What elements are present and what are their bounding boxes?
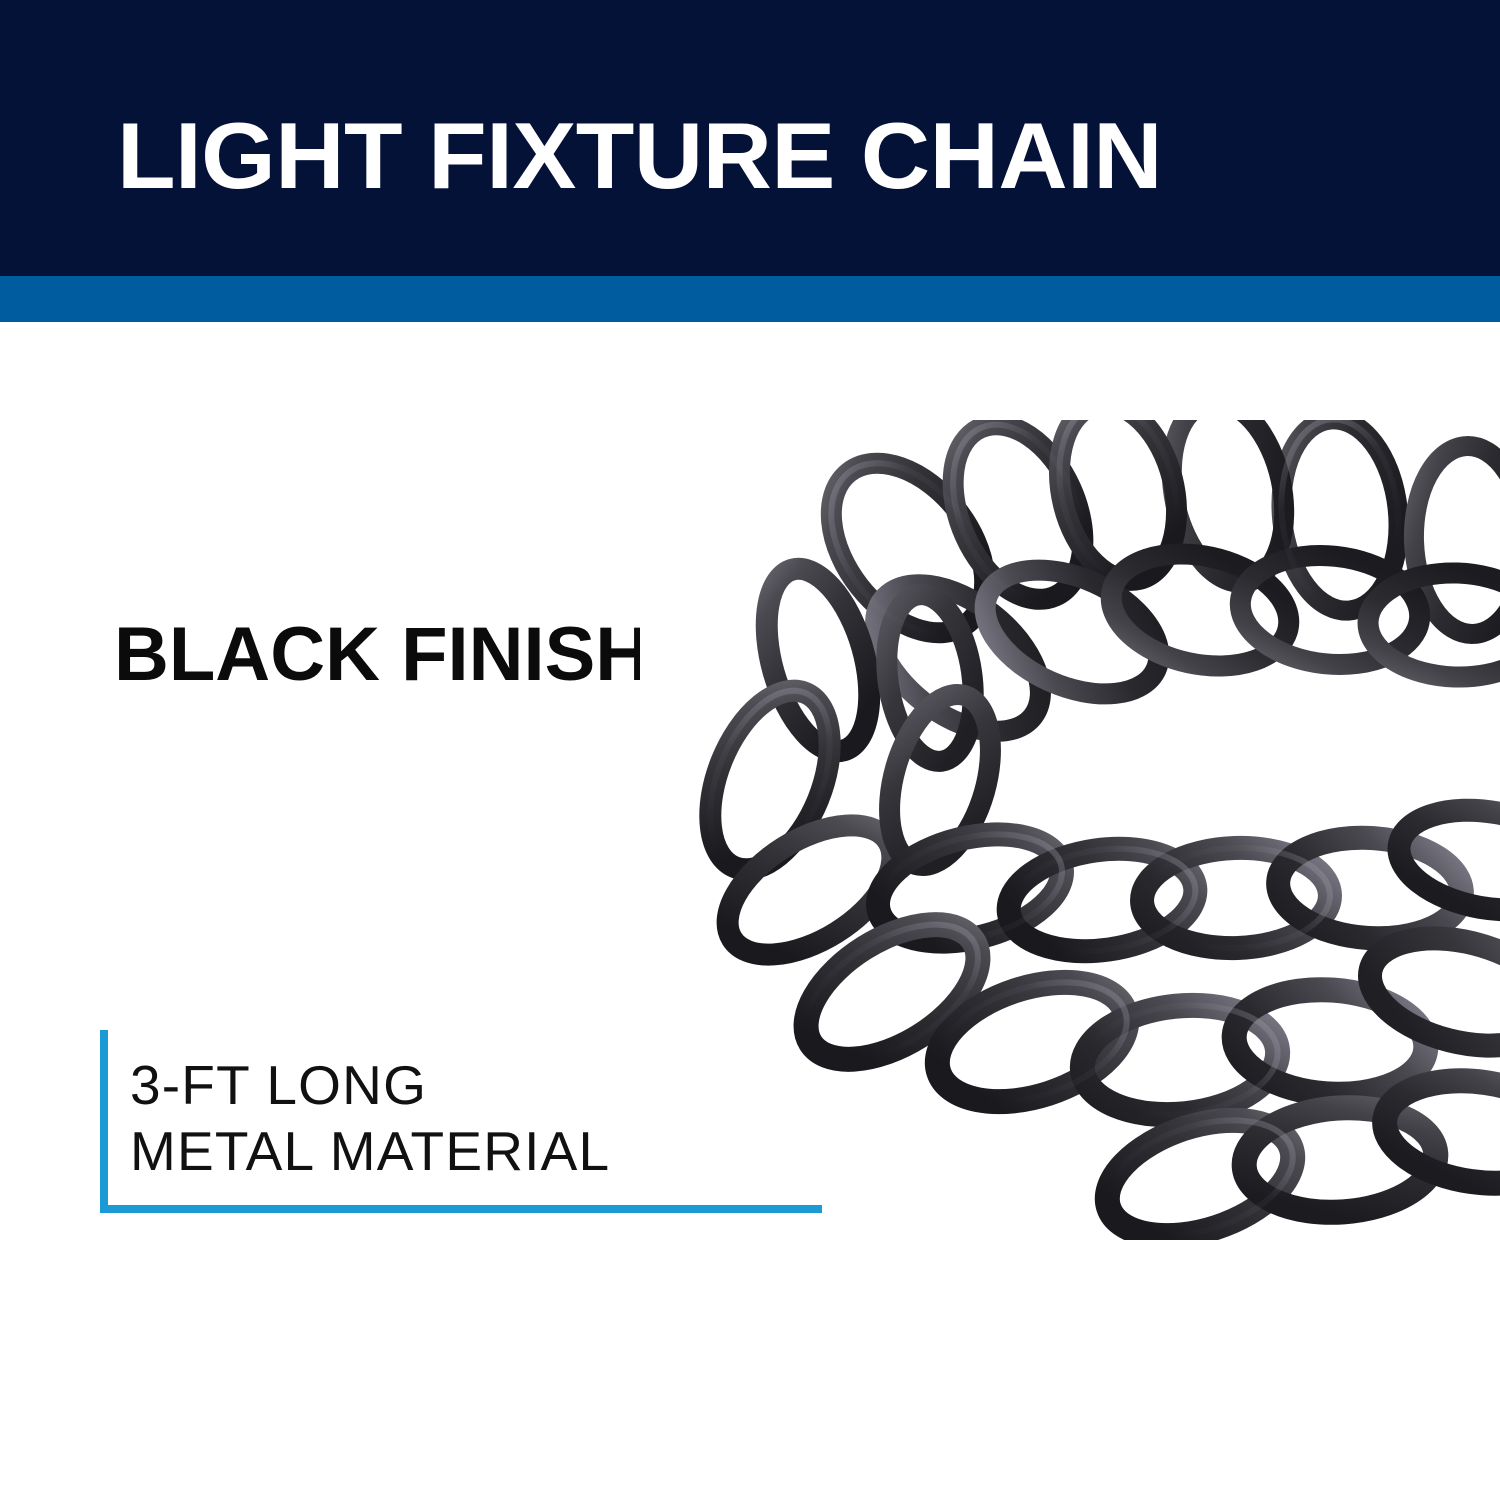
header-accent-strip	[0, 276, 1500, 322]
callout-text-block: 3-FT LONG METAL MATERIAL	[130, 1052, 610, 1184]
header-bar: LIGHT FIXTURE CHAIN	[0, 0, 1500, 276]
page-title: LIGHT FIXTURE CHAIN	[117, 106, 1162, 206]
product-marketing-canvas: LIGHT FIXTURE CHAIN BLACK FINISH	[0, 0, 1500, 1500]
callout-line-1: 3-FT LONG	[130, 1052, 610, 1118]
callout-rule-vertical	[100, 1030, 108, 1213]
callout-line-2: METAL MATERIAL	[130, 1118, 610, 1184]
feature-headline: BLACK FINISH	[114, 612, 650, 698]
callout-rule-horizontal	[100, 1205, 822, 1213]
callout-bracket: 3-FT LONG METAL MATERIAL	[100, 1030, 822, 1213]
